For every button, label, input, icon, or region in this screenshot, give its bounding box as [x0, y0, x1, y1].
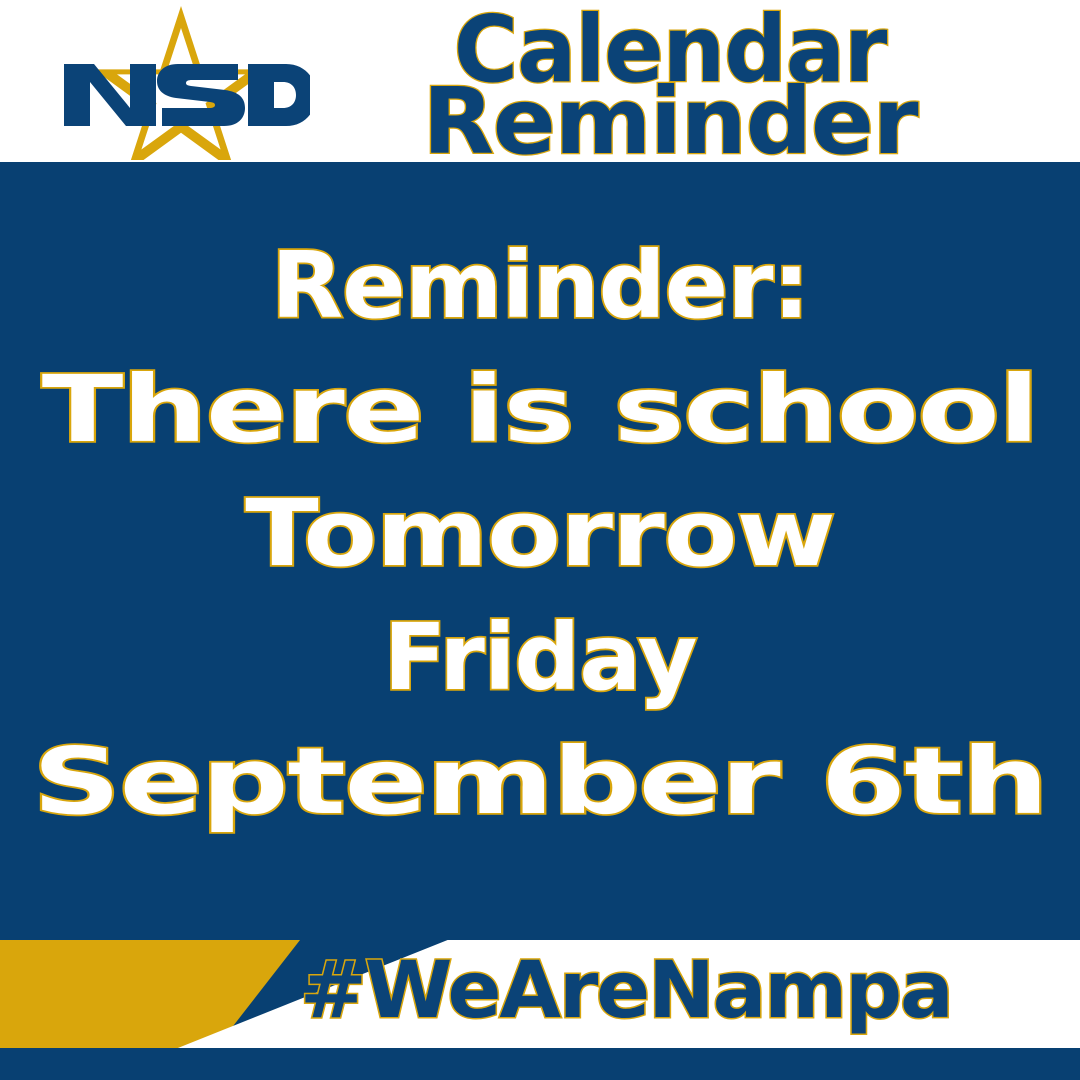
nsd-logo-graphic [52, 2, 310, 160]
message-line-2: There is school [0, 364, 1080, 456]
footer-band: #WeAreNampa [0, 940, 1080, 1080]
message-line-5: September 6th [0, 736, 1080, 828]
header-band: Calendar Reminder [0, 0, 1080, 162]
message-line-3: Tomorrow [0, 488, 1080, 580]
reminder-message: Reminder: There is school Tomorrow Frida… [0, 240, 1080, 828]
calendar-reminder-poster: Calendar Reminder Reminder: There is sch… [0, 0, 1080, 1080]
header-title: Calendar Reminder [320, 0, 1020, 162]
body-area: Reminder: There is school Tomorrow Frida… [0, 162, 1080, 940]
nsd-wordmark [64, 64, 310, 126]
footer-hashtag: #WeAreNampa [300, 952, 1080, 1030]
message-line-4: Friday [0, 612, 1080, 704]
nsd-logo [52, 2, 310, 160]
message-line-1: Reminder: [0, 240, 1080, 332]
header-title-line-2: Reminder [278, 68, 1062, 162]
